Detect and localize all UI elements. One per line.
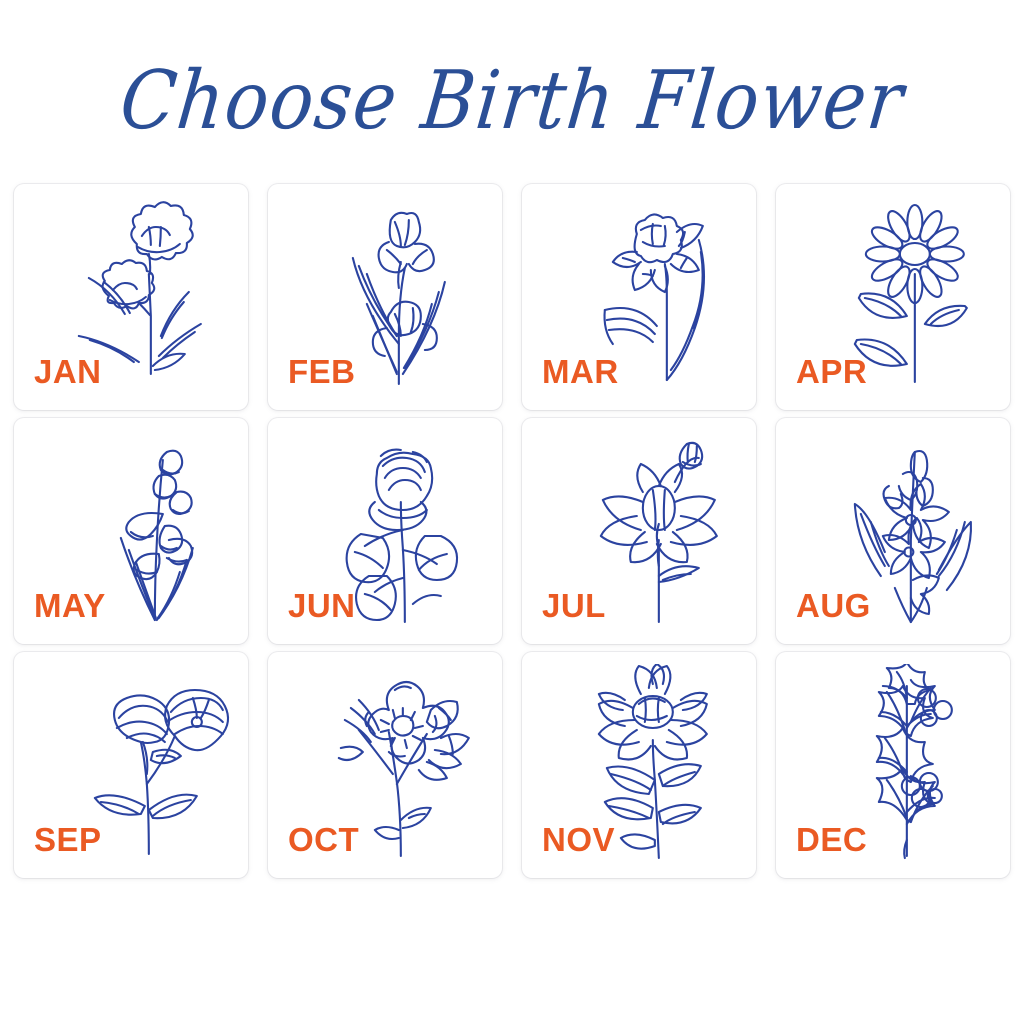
month-card-oct[interactable]: OCT [268, 652, 502, 878]
month-label-apr: APR [796, 355, 867, 388]
month-card-apr[interactable]: APR [776, 184, 1010, 410]
month-label-nov: NOV [542, 823, 615, 856]
month-card-mar[interactable]: MAR [522, 184, 756, 410]
month-card-jul[interactable]: JUL [522, 418, 756, 644]
month-card-jun[interactable]: JUN [268, 418, 502, 644]
page-title-container: Choose Birth Flower [0, 42, 1024, 160]
month-label-dec: DEC [796, 823, 867, 856]
month-card-feb[interactable]: FEB [268, 184, 502, 410]
month-card-may[interactable]: MAY [14, 418, 248, 644]
month-label-jan: JAN [34, 355, 102, 388]
month-card-jan[interactable]: JAN [14, 184, 248, 410]
month-card-aug[interactable]: AUG [776, 418, 1010, 644]
month-card-nov[interactable]: NOV [522, 652, 756, 878]
birth-flower-grid: JAN [14, 184, 1014, 878]
month-label-may: MAY [34, 589, 106, 622]
month-label-aug: AUG [796, 589, 871, 622]
month-card-sep[interactable]: SEP [14, 652, 248, 878]
month-label-feb: FEB [288, 355, 356, 388]
birth-flower-selector-page: Choose Birth Flower [0, 0, 1024, 1024]
page-title: Choose Birth Flower [116, 59, 908, 144]
month-card-dec[interactable]: DEC [776, 652, 1010, 878]
month-label-mar: MAR [542, 355, 619, 388]
month-label-jul: JUL [542, 589, 606, 622]
month-label-jun: JUN [288, 589, 356, 622]
month-label-sep: SEP [34, 823, 102, 856]
month-label-oct: OCT [288, 823, 359, 856]
